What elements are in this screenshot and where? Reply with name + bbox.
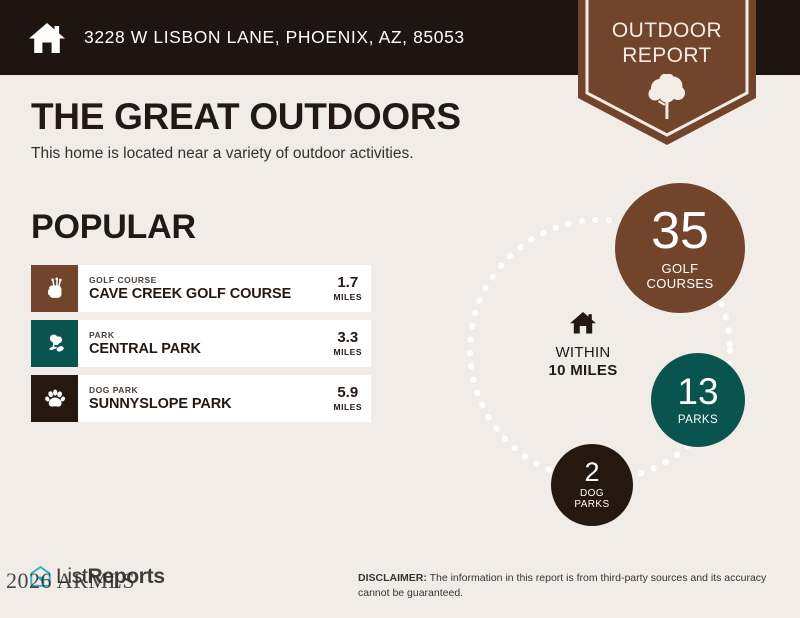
stat-circle-parks[interactable]: 13 PARKS [651,353,745,447]
disclaimer: DISCLAIMER: The information in this repo… [358,571,778,601]
list-item-distance-value: 3.3 [334,330,362,345]
stat-label-line2: PARKS [574,499,609,510]
stat-label-line1: GOLF [662,261,699,276]
listreports-wordmark: ListReports [56,565,165,589]
list-item-body: GOLF COURSE CAVE CREEK GOLF COURSE 1.7 M… [78,265,371,312]
property-address: 3228 W LISBON LANE, PHOENIX, AZ, 85053 [84,27,465,48]
list-item-category: PARK [89,331,201,340]
list-item-body: PARK CENTRAL PARK 3.3 MILES [78,320,371,367]
outdoor-report-badge: OUTDOOR REPORT [578,0,756,145]
list-item-category: DOG PARK [89,386,231,395]
list-item-name: CAVE CREEK GOLF COURSE [89,287,291,302]
badge-title-line2: REPORT [578,43,756,68]
list-item-distance-value: 1.7 [334,275,362,290]
badge-title: OUTDOOR REPORT [578,18,756,68]
list-item-text: PARK CENTRAL PARK [89,331,201,357]
home-icon [26,17,68,59]
popular-poi-list: GOLF COURSE CAVE CREEK GOLF COURSE 1.7 M… [31,265,371,430]
stat-label: DOG PARKS [574,489,609,511]
list-item-text: DOG PARK SUNNYSLOPE PARK [89,386,231,412]
badge-title-line1: OUTDOOR [578,18,756,43]
stat-count: 35 [651,205,709,257]
list-item-distance: 1.7 MILES [328,275,362,302]
paw-print-icon [31,375,78,422]
page-title: THE GREAT OUTDOORS [31,96,461,138]
list-item[interactable]: DOG PARK SUNNYSLOPE PARK 5.9 MILES [31,375,371,422]
diagram-center-line2: 10 MILES [518,362,648,380]
popular-section-title: POPULAR [31,208,196,247]
outdoor-stats-diagram: 35 GOLF COURSES 13 PARKS 2 DOG PARKS WIT… [455,175,775,535]
stat-circle-golf-courses[interactable]: 35 GOLF COURSES [615,183,745,313]
list-item-distance-unit: MILES [334,403,362,412]
list-item-text: GOLF COURSE CAVE CREEK GOLF COURSE [89,276,291,302]
diagram-center-label: WITHIN 10 MILES [518,308,648,379]
list-item-category: GOLF COURSE [89,276,291,285]
list-item[interactable]: PARK CENTRAL PARK 3.3 MILES [31,320,371,367]
home-icon [568,308,598,338]
list-item-distance-value: 5.9 [334,385,362,400]
list-item-name: SUNNYSLOPE PARK [89,397,231,412]
list-item[interactable]: GOLF COURSE CAVE CREEK GOLF COURSE 1.7 M… [31,265,371,312]
diagram-center-line1: WITHIN [518,344,648,362]
list-item-distance-unit: MILES [334,348,362,357]
stat-circle-dog-parks[interactable]: 2 DOG PARKS [551,444,633,526]
list-item-name: CENTRAL PARK [89,342,201,357]
page-subtitle: This home is located near a variety of o… [31,145,414,163]
tree-icon [648,74,686,120]
disclaimer-label: DISCLAIMER: [358,572,427,584]
listreports-wordmark-light: List [56,565,87,588]
golf-bag-icon [31,265,78,312]
park-tree-icon [31,320,78,367]
listreports-house-icon [27,563,54,590]
list-item-distance: 5.9 MILES [328,385,362,412]
stat-count: 13 [677,373,718,410]
stat-label-line2: COURSES [646,276,713,291]
listreports-wordmark-bold: Reports [87,565,164,588]
stat-label-line1: DOG [580,488,604,499]
list-item-distance-unit: MILES [334,293,362,302]
stat-label: GOLF COURSES [646,262,713,290]
listreports-logo[interactable]: ListReports [27,563,165,590]
list-item-body: DOG PARK SUNNYSLOPE PARK 5.9 MILES [78,375,371,422]
stat-label: PARKS [678,414,718,426]
stat-count: 2 [584,459,599,486]
list-item-distance: 3.3 MILES [328,330,362,357]
